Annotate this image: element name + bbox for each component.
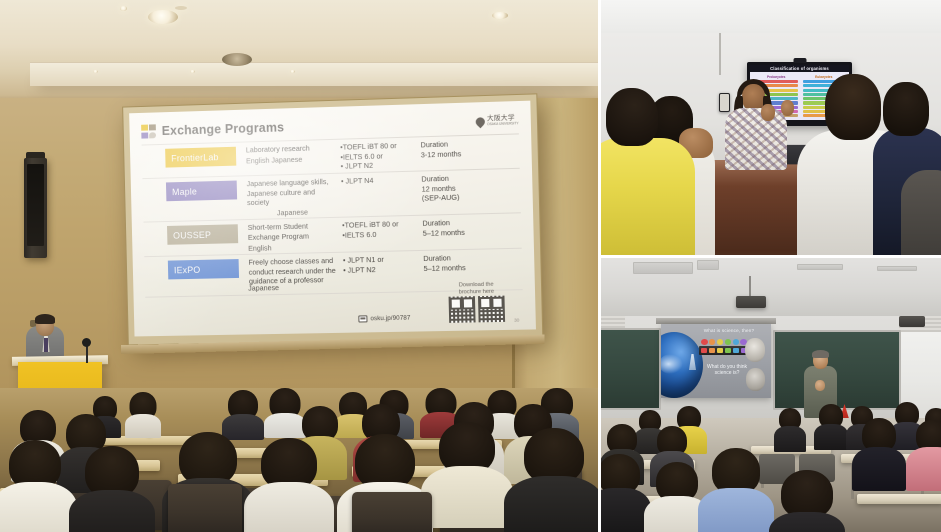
panel-classroom-lecture: What is science, then? What do you think… xyxy=(601,258,941,532)
photo-collage: Exchange Programs 大阪大学 OSAKA UNIVERSITY … xyxy=(0,0,941,532)
ceiling-light-icon xyxy=(148,10,178,24)
cable xyxy=(719,33,721,75)
chart-column-header: Prokaryotes xyxy=(755,75,798,79)
chalkboard xyxy=(773,330,901,410)
ceiling-vent-icon xyxy=(222,53,252,66)
audience-member xyxy=(258,438,320,532)
program-languages: Japanese xyxy=(248,283,279,293)
duration-value: 5–12 months xyxy=(423,262,522,274)
student xyxy=(653,462,701,532)
audience-member xyxy=(128,392,158,430)
student-body xyxy=(601,138,695,255)
student xyxy=(777,408,803,446)
earth-globe-icon xyxy=(661,332,703,398)
smartphone xyxy=(719,93,730,112)
monitor-slide-titlebar: Classification of organisms xyxy=(750,65,849,72)
program-description: Short-term Student Exchange Program xyxy=(248,221,339,242)
osaka-brand-glyph-icon xyxy=(474,115,487,128)
audience-member xyxy=(82,446,142,532)
slide-dot-row xyxy=(701,339,747,345)
chalkboard xyxy=(601,328,661,410)
projected-slide-title: What is science, then? xyxy=(691,328,767,333)
program-badge: IExPO xyxy=(168,259,239,279)
presenter-hair xyxy=(35,314,55,324)
slide-page-number: 30 xyxy=(514,318,519,323)
program-duration-col: Duration 12 months (SEP-AUG) xyxy=(421,172,520,204)
duration-value: 5–12 months xyxy=(423,226,522,238)
program-description: Japanese language skills, Japanese cultu… xyxy=(247,177,338,208)
osaka-university-brand: 大阪大学 OSAKA UNIVERSITY xyxy=(476,115,519,127)
student-head xyxy=(606,88,658,146)
scientist-portrait xyxy=(746,368,765,391)
panel-divider xyxy=(601,255,941,258)
panel-group-discussion: Classification of organisms Prokaryotes xyxy=(601,0,941,255)
program-requirements-col: • JLPT N4 xyxy=(341,175,422,187)
student xyxy=(817,404,845,444)
panel-lecture-hall: Exchange Programs 大阪大学 OSAKA UNIVERSITY … xyxy=(0,0,598,532)
monitor-slide-title: Classification of organisms xyxy=(750,65,849,72)
program-description-col: Laboratory research English Japanese xyxy=(246,143,341,166)
osaka-logo-squares-icon xyxy=(141,124,156,139)
ceiling-light-icon xyxy=(492,12,508,19)
duration-value: 3-12 months xyxy=(421,147,520,159)
audience-member xyxy=(226,390,260,430)
program-duration-col: Duration 5–12 months xyxy=(423,252,522,273)
program-requirements-col: • JLPT N1 or • JLPT N2 xyxy=(343,254,424,275)
ceiling-light-icon xyxy=(290,70,295,73)
link-url: osku.jp/90787 xyxy=(370,315,410,323)
student xyxy=(779,470,835,532)
slide-title: Exchange Programs xyxy=(162,120,285,138)
ceiling-projector xyxy=(899,316,925,327)
program-badge: FrontierLab xyxy=(165,147,236,168)
qr-pair xyxy=(449,296,506,323)
presenter-tie xyxy=(44,338,48,352)
program-badge: OUSSEP xyxy=(167,225,238,246)
qr-code-icon[interactable] xyxy=(449,296,476,323)
program-description-col: Short-term Student Exchange Program Engl… xyxy=(248,221,343,253)
slide-footer: Japanese osku.jp/90787 Download the broc… xyxy=(145,289,523,330)
projector-mount xyxy=(749,276,751,298)
program-languages: English xyxy=(248,241,339,253)
qr-caption-line2: brochure here xyxy=(448,288,504,296)
slide-exchange-programs: Exchange Programs 大阪大学 OSAKA UNIVERSITY … xyxy=(129,101,536,337)
ceiling-light-icon xyxy=(120,6,127,11)
ceiling-light-icon xyxy=(93,70,98,73)
qr-caption: Download the brochure here xyxy=(448,281,504,296)
requirement-item: •IELTS 6.0 xyxy=(342,229,419,241)
duration-note: (SEP-AUG) xyxy=(422,191,521,203)
presenter-hand xyxy=(781,100,794,116)
audience-area: KARASAKI xyxy=(0,388,598,532)
audience-member xyxy=(436,422,498,518)
program-description-col: Japanese language skills, Japanese cultu… xyxy=(247,177,342,219)
panel-divider xyxy=(598,0,601,532)
ceiling-band xyxy=(30,62,598,86)
qr-block: Download the brochure here xyxy=(448,281,505,323)
student-body xyxy=(901,170,941,255)
wall-loudspeaker-icon xyxy=(24,158,47,258)
projection-screen: Exchange Programs 大阪大学 OSAKA UNIVERSITY … xyxy=(122,93,543,345)
lecturer-hand xyxy=(815,380,825,391)
audience-member xyxy=(520,428,588,528)
webcam-icon xyxy=(793,58,806,63)
program-requirements-col: •TOEFL iBT 80 or •IELTS 6.0 xyxy=(342,219,423,240)
ceiling-panel xyxy=(697,260,719,270)
requirement-item: • JLPT N4 xyxy=(341,175,418,187)
scientist-portrait xyxy=(745,338,765,362)
student-head xyxy=(883,82,929,136)
program-languages: English Japanese xyxy=(246,153,337,165)
audience-member xyxy=(6,440,64,532)
program-description-col: Freely choose classes and conduct resear… xyxy=(248,256,343,287)
chair xyxy=(168,484,242,532)
requirement-item: • JLPT N2 xyxy=(343,264,420,275)
ceiling xyxy=(601,0,941,34)
projection-screen: What is science, then? What do you think… xyxy=(661,324,771,398)
program-description: Freely choose classes and conduct resear… xyxy=(248,256,339,287)
slide-link[interactable]: osku.jp/90787 xyxy=(358,315,410,323)
program-requirements-col: •TOEFL iBT 80 or •IELTS 6.0 or • JLPT N2 xyxy=(340,140,421,172)
screen-surface: Exchange Programs 大阪大学 OSAKA UNIVERSITY … xyxy=(129,101,536,337)
student-head xyxy=(825,74,881,140)
student xyxy=(913,420,941,476)
program-badge: Maple xyxy=(166,181,237,202)
student xyxy=(601,454,643,532)
student xyxy=(709,448,763,532)
link-card-icon xyxy=(358,316,367,323)
slide-color-bar xyxy=(699,346,749,355)
student-desk xyxy=(857,494,941,504)
presenter-hand xyxy=(761,104,775,121)
chair xyxy=(352,492,432,532)
ceiling-panel xyxy=(877,266,917,271)
ceiling-projector xyxy=(736,296,766,308)
student xyxy=(859,418,899,476)
ceiling-vent-icon xyxy=(633,262,693,274)
qr-code-icon[interactable] xyxy=(478,296,505,323)
program-duration-col: Duration 3-12 months xyxy=(420,137,519,159)
lecturer-hair xyxy=(812,350,829,358)
microphone-icon xyxy=(82,338,91,347)
audience-member xyxy=(268,388,302,428)
program-duration-col: Duration 5–12 months xyxy=(422,217,521,239)
presenter-body xyxy=(725,108,787,170)
brand-sub: OSAKA UNIVERSITY xyxy=(487,122,519,127)
ceiling-panel xyxy=(797,264,843,270)
ceiling-light-icon xyxy=(175,6,187,10)
projected-slide-question: What do you think science is? xyxy=(701,364,753,377)
ceiling-light-icon xyxy=(190,70,195,73)
